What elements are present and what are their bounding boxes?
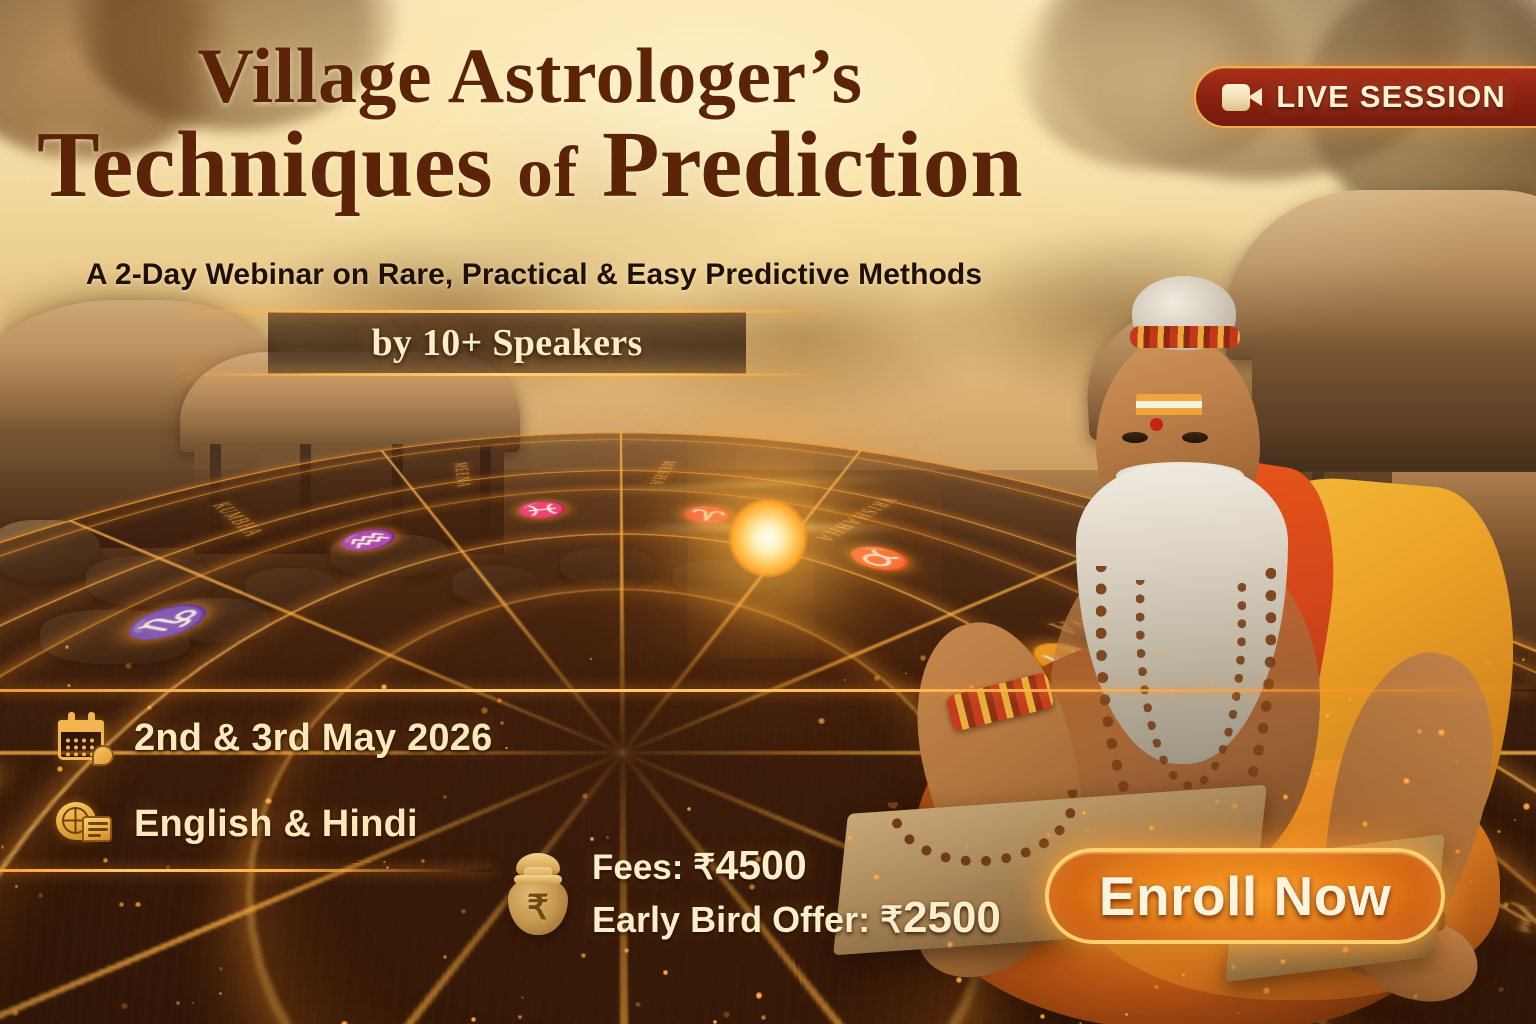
title-word-techniques: Techniques xyxy=(37,113,493,217)
divider-rule-top xyxy=(0,689,1536,692)
live-session-label: LIVE SESSION xyxy=(1276,79,1506,115)
date-label: 2nd & 3rd May 2026 xyxy=(134,717,492,760)
info-row-date: 2nd & 3rd May 2026 xyxy=(56,712,492,764)
video-camera-icon xyxy=(1222,84,1262,111)
title-line-1: Village Astrologer’s xyxy=(0,36,1060,116)
money-bag-icon: ₹ xyxy=(502,847,574,939)
divider-rule-bottom xyxy=(0,869,492,872)
info-row-language: English & Hindi xyxy=(56,798,418,850)
regular-fee-amount: 4500 xyxy=(715,842,806,888)
enroll-now-label: Enroll Now xyxy=(1099,864,1391,928)
page-title: Village Astrologer’s Techniques of Predi… xyxy=(0,36,1060,213)
title-line-2: Techniques of Prediction xyxy=(0,118,1060,214)
regular-fee-label: Fees: ₹ xyxy=(592,848,715,887)
early-bird-fee: Early Bird Offer: ₹2500 xyxy=(592,893,1001,943)
language-globe-chat-icon xyxy=(56,798,112,850)
language-label: English & Hindi xyxy=(134,803,418,846)
calendar-icon xyxy=(56,712,112,764)
speakers-band: by 10+ Speakers xyxy=(268,312,746,374)
early-bird-amount: 2500 xyxy=(903,893,1001,942)
regular-fee: Fees: ₹4500 xyxy=(592,842,1001,889)
title-word-prediction: Prediction xyxy=(602,113,1023,217)
fees-block: ₹ Fees: ₹4500 Early Bird Offer: ₹2500 xyxy=(502,842,1001,943)
early-bird-label: Early Bird Offer: ₹ xyxy=(592,899,903,940)
enroll-now-button[interactable]: Enroll Now xyxy=(1045,848,1445,944)
money-bag-rupee-symbol: ₹ xyxy=(502,891,574,925)
live-session-badge[interactable]: LIVE SESSION xyxy=(1194,66,1536,128)
subtitle: A 2-Day Webinar on Rare, Practical & Eas… xyxy=(0,258,1068,292)
speakers-label: by 10+ Speakers xyxy=(268,312,746,374)
promo-banner: ♈♉♊♋♌♍♎♏♐♑♒♓ MESHAVRISHABHAMITHUNAKARKAS… xyxy=(0,0,1536,1024)
title-word-of: of xyxy=(517,132,578,212)
